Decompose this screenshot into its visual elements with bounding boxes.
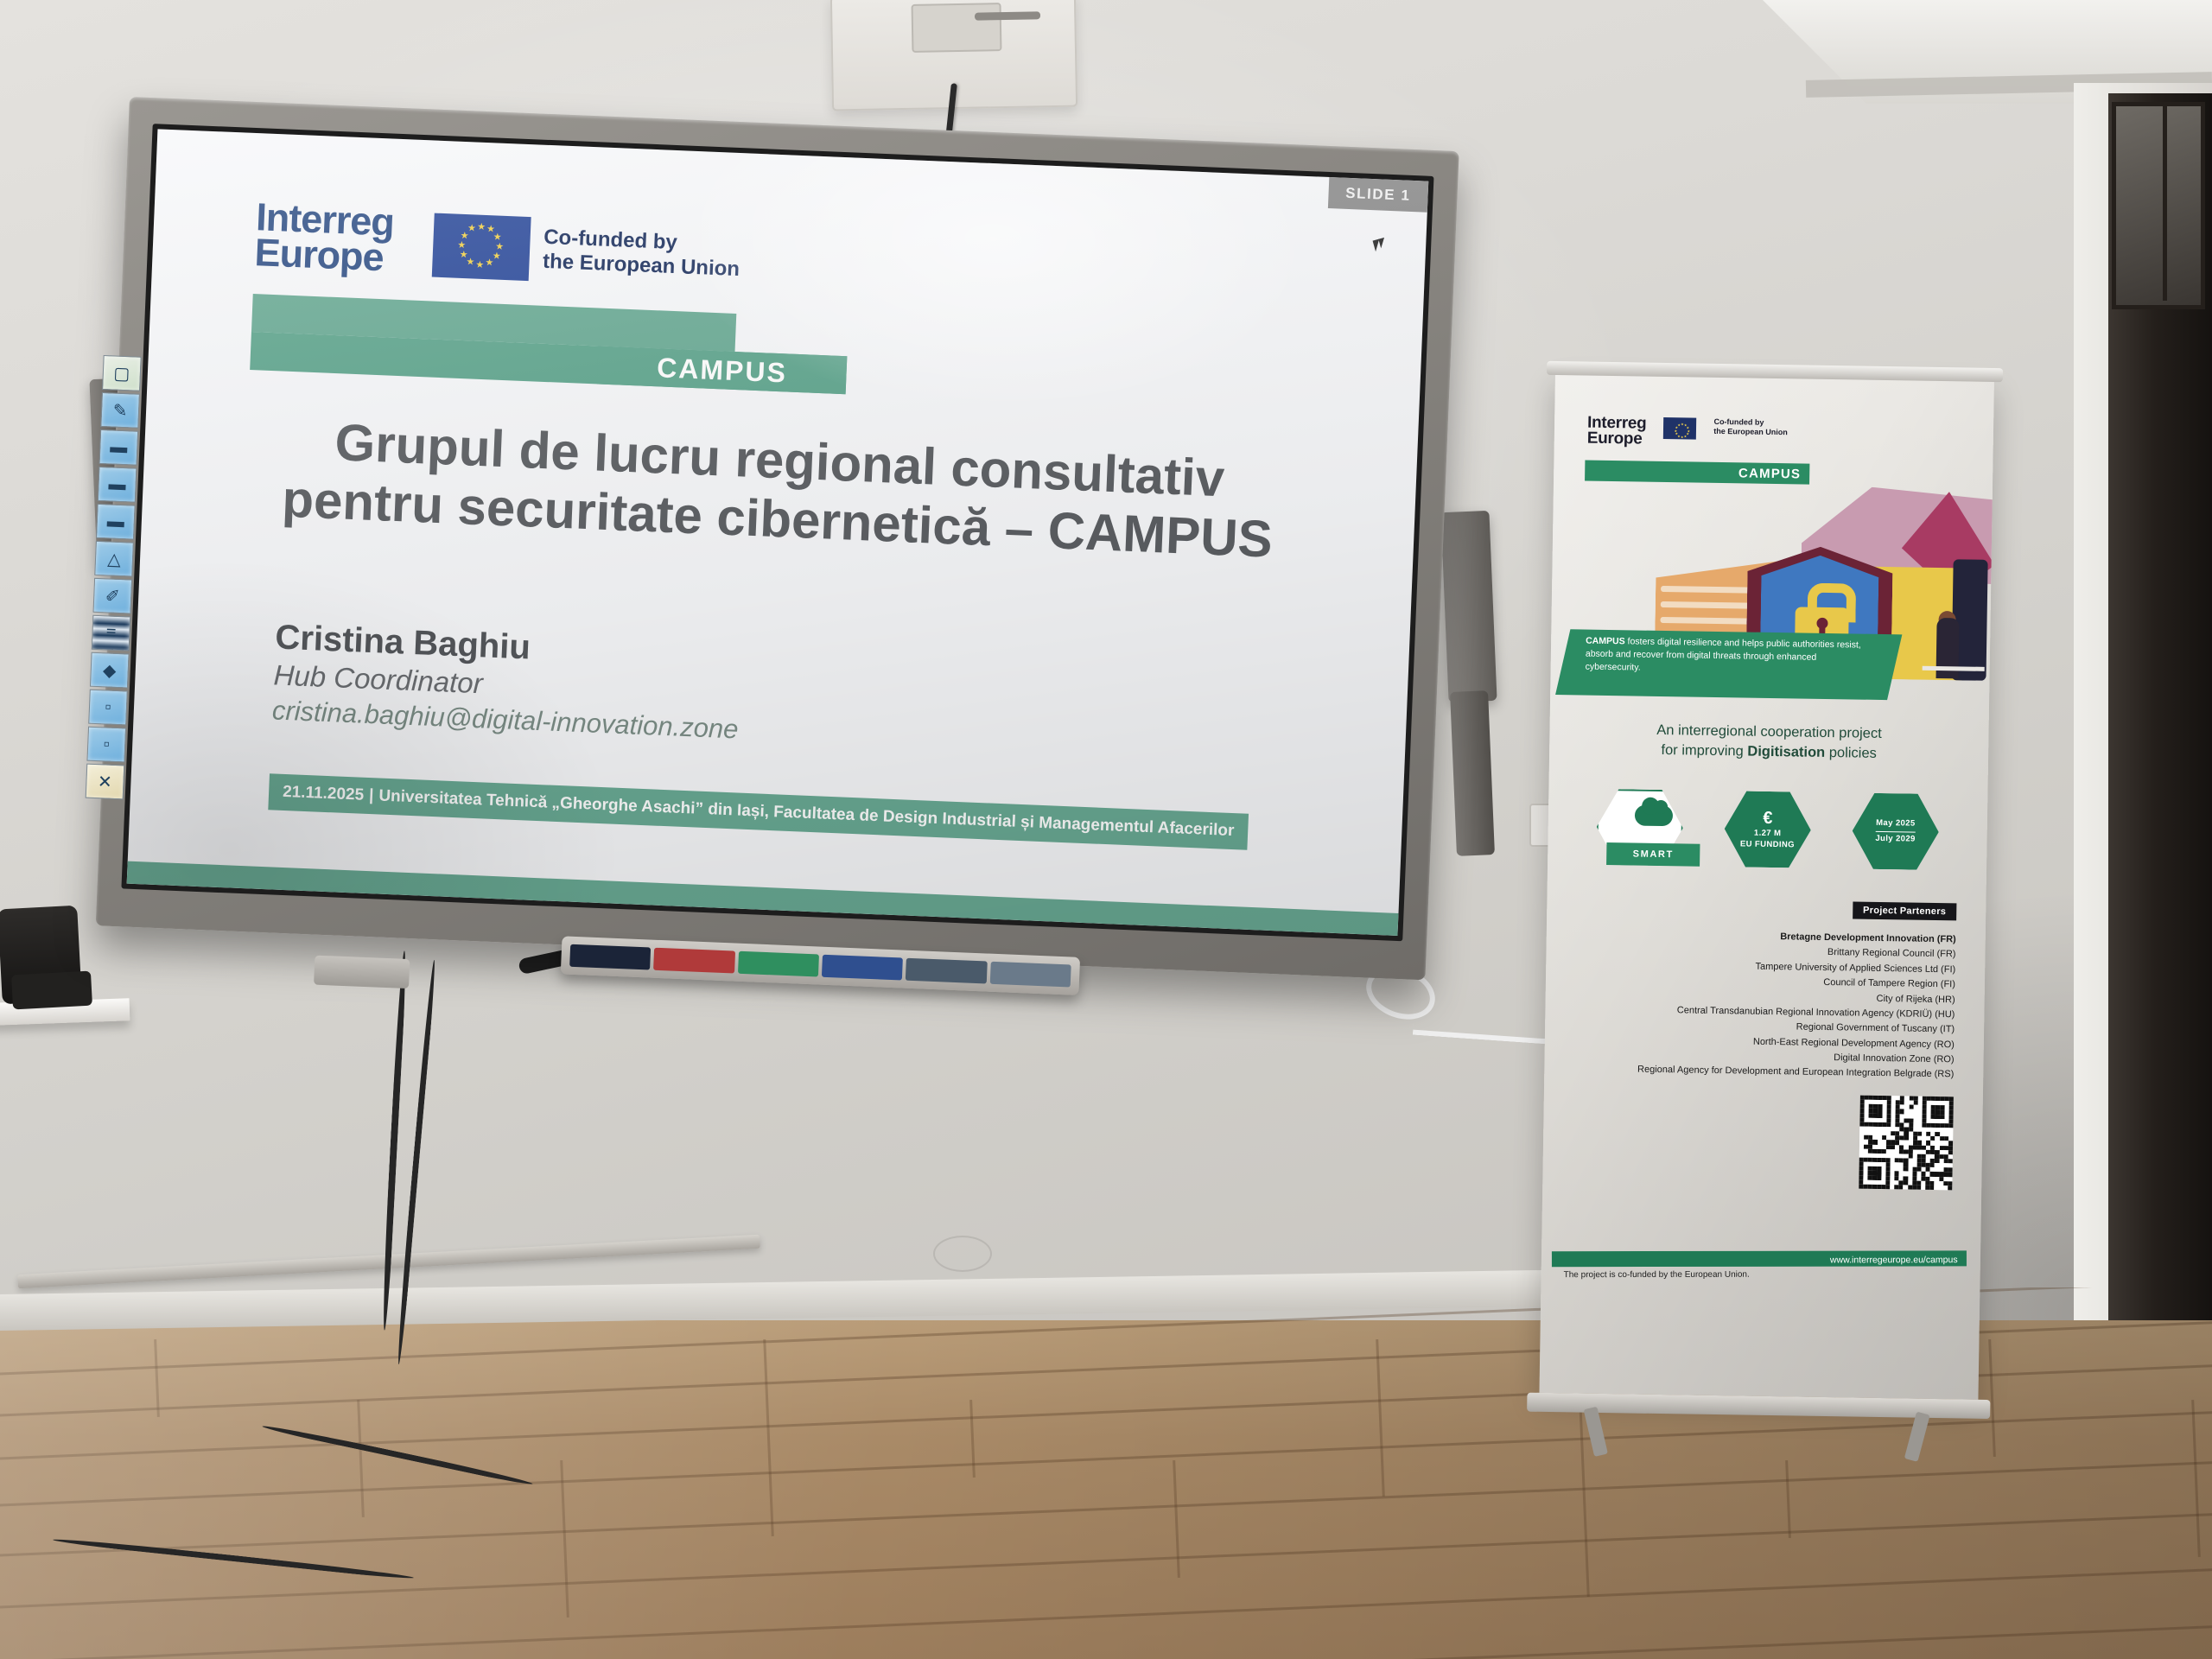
speaker-right: [1440, 511, 1497, 702]
banner-lead-text: An interregional cooperation project for…: [1549, 719, 1989, 766]
tool-glyph-icon: ▫: [89, 690, 127, 725]
banner-funding-note: The project is co-funded by the European…: [1564, 1270, 1750, 1280]
highlighter-yellow-icon[interactable]: ▬: [96, 504, 136, 540]
eu-star-icon: ★: [493, 233, 501, 241]
interactive-display[interactable]: Interreg Europe ★★★★★★★★★★★★ Co-funded b…: [96, 97, 1459, 980]
banner-campus-tag: CAMPUS: [1585, 461, 1809, 485]
slide-logo-row: Interreg Europe ★★★★★★★★★★★★ Co-funded b…: [254, 199, 741, 290]
close-icon[interactable]: ✕: [86, 764, 125, 800]
wall-mark: [933, 1236, 992, 1272]
tool-glyph-icon: ▫: [87, 728, 125, 762]
footer-venue: Universitatea Tehnică „Gheorghe Asachi” …: [378, 787, 1235, 842]
door-mullion: [2163, 102, 2167, 301]
presentation-slide: Interreg Europe ★★★★★★★★★★★★ Co-funded b…: [127, 129, 1429, 936]
banner-lead-post: policies: [1825, 745, 1877, 761]
tool-glyph-icon: ◆: [91, 653, 129, 688]
funding-label: EU FUNDING: [1740, 839, 1795, 850]
eraser-icon[interactable]: ◆: [90, 652, 130, 689]
green-marker-slot[interactable]: [738, 951, 819, 977]
banner-eu-funding-text: Co-funded by the European Union: [1713, 417, 1788, 438]
date-end: July 2029: [1875, 833, 1916, 844]
tool-glyph-icon: ▬: [97, 505, 135, 539]
banner-interreg-logo: Interreg Europe: [1587, 416, 1647, 448]
eu-star-icon: ★: [477, 223, 485, 231]
tool-glyph-icon: ▬: [100, 430, 138, 465]
door-glass-panel: [2112, 102, 2205, 309]
tool-glyph-icon: ≡: [92, 616, 130, 651]
smart-cloud-icon: [1635, 805, 1673, 827]
tool-glyph-icon: ▢: [103, 356, 141, 391]
qr-code[interactable]: [1859, 1096, 1954, 1191]
banner-url: www.interregeurope.eu/campus: [1830, 1255, 1958, 1265]
rollup-banner: Interreg Europe ★★★★★★★★★★★★ Co-funded b…: [1539, 373, 1993, 1400]
banner-logo-row: Interreg Europe ★★★★★★★★★★★★ Co-funded b…: [1587, 416, 1788, 450]
blue-marker-slot[interactable]: [822, 955, 903, 981]
banner-lead-bold: Digitisation: [1747, 743, 1825, 760]
slide-title: Grupul de lucru regional consultativ pen…: [228, 409, 1330, 572]
partners-list: Bretagne Development Innovation (FR)Brit…: [1573, 926, 1956, 1083]
lines-icon[interactable]: ≡: [92, 615, 131, 652]
partners-title: Project Parteners: [1853, 901, 1957, 920]
interreg-logo-line2: Europe: [254, 234, 393, 276]
black-marker-slot[interactable]: [569, 944, 651, 970]
eu-star-icon: ★: [467, 226, 475, 233]
footer-date: 21.11.2025: [283, 783, 365, 805]
tool-glyph-icon: ✕: [86, 765, 124, 799]
pen-blue-icon[interactable]: ✎: [100, 392, 140, 429]
speaker-block: Cristina Baghiu Hub Coordinator cristina…: [271, 618, 742, 745]
eraser-slot-2[interactable]: [989, 962, 1071, 988]
tool-glyph-icon: △: [95, 542, 133, 576]
blank-page-icon[interactable]: ▢: [102, 355, 142, 391]
hex-dates: May 2025 July 2029: [1852, 792, 1939, 870]
banner-caption-rest: fosters digital resilience and helps pub…: [1586, 636, 1861, 672]
page-icon[interactable]: ▫: [86, 727, 126, 763]
marker-black-icon[interactable]: ▬: [99, 429, 139, 466]
slide-number-badge: SLIDE 1: [1327, 177, 1428, 213]
red-marker-slot[interactable]: [653, 948, 734, 974]
eraser-slot-1[interactable]: [906, 958, 987, 984]
tray-usb-port[interactable]: [314, 956, 410, 988]
banner-caption: CAMPUS fosters digital resilience and he…: [1586, 635, 1872, 678]
eu-star-icon: ★: [495, 243, 503, 251]
banner-interreg-line2: Europe: [1587, 431, 1647, 448]
banner-caption-bold: CAMPUS: [1586, 636, 1625, 647]
eu-star-icon: ★: [460, 251, 467, 258]
display-screen[interactable]: Interreg Europe ★★★★★★★★★★★★ Co-funded b…: [127, 129, 1429, 936]
euro-symbol-icon: €: [1763, 809, 1772, 829]
funding-amount: 1.27 M: [1754, 829, 1782, 840]
eu-star-icon: ★: [457, 241, 465, 249]
desk-phone-base: [11, 971, 92, 1010]
note-icon[interactable]: ▫: [88, 690, 128, 726]
slide-footer-bar: 21.11.2025 | Universitatea Tehnică „Gheo…: [268, 773, 1249, 849]
highlighter-green-icon[interactable]: ▬: [98, 467, 137, 503]
qr-module: [1948, 1185, 1952, 1190]
date-start: May 2025: [1876, 818, 1916, 832]
banner-eu-flag-icon: ★★★★★★★★★★★★: [1663, 417, 1696, 440]
speaker-right-lower: [1450, 690, 1495, 856]
eu-star-icon: ★: [1675, 421, 1683, 429]
eu-star-icon: ★: [475, 261, 483, 269]
campus-tag: CAMPUS: [597, 346, 848, 394]
tool-glyph-icon: ▬: [99, 467, 137, 502]
eu-funding-block: ★★★★★★★★★★★★ Co-funded by the European U…: [431, 207, 741, 290]
hex-funding: € 1.27 M EU FUNDING: [1724, 791, 1811, 868]
room-scene: Interreg Europe ★★★★★★★★★★★★ Co-funded b…: [0, 0, 2212, 1659]
banner-lead-pre: for improving: [1661, 742, 1747, 760]
banner-eu-line2: the European Union: [1713, 427, 1788, 438]
pencil-icon[interactable]: ✐: [92, 578, 132, 614]
tool-glyph-icon: ✎: [101, 393, 139, 428]
eu-flag-icon: ★★★★★★★★★★★★: [431, 213, 531, 282]
smart-label: SMART: [1606, 842, 1700, 867]
shapes-icon[interactable]: △: [94, 541, 134, 577]
eu-funding-text: Co-funded by the European Union: [543, 225, 741, 282]
tool-glyph-icon: ✐: [94, 579, 132, 613]
footer-separator: |: [364, 786, 379, 806]
interreg-europe-logo: Interreg Europe: [254, 199, 395, 276]
cable-slot: [975, 11, 1040, 20]
eu-star-icon: ★: [485, 259, 493, 267]
wall-cable-box-inner: [912, 3, 1002, 53]
